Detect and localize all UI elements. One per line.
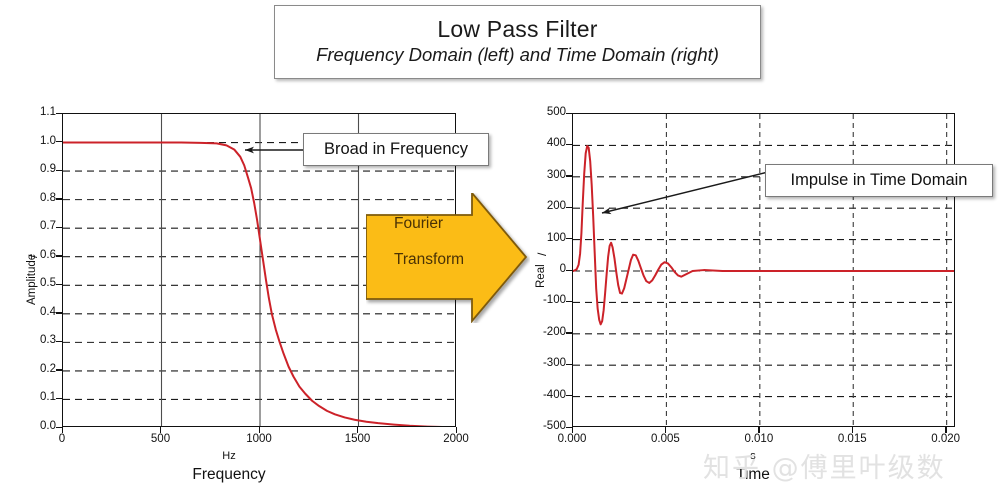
y-tick-mark <box>566 301 572 302</box>
y-tick-label: 400 <box>528 137 566 149</box>
x-tick-label: 0.020 <box>911 433 981 445</box>
y-tick-label: 0.7 <box>18 220 56 232</box>
y-tick-mark <box>56 255 62 256</box>
x-tick-label: 0.015 <box>817 433 887 445</box>
y-tick-mark <box>56 141 62 142</box>
y-tick-label: -100 <box>528 294 566 306</box>
y-tick-label: 0.1 <box>18 391 56 403</box>
y-tick-label: 1.1 <box>18 106 56 118</box>
y-tick-mark <box>566 113 572 114</box>
x-tick-mark <box>62 427 63 433</box>
y-tick-label: 100 <box>528 232 566 244</box>
x-tick-label: 0.010 <box>724 433 794 445</box>
x-tick-label: 0.000 <box>537 433 607 445</box>
y-axis-unit-real: / <box>535 253 549 256</box>
y-tick-mark <box>566 238 572 239</box>
y-tick-label: 1.0 <box>18 135 56 147</box>
page-subtitle: Frequency Domain (left) and Time Domain … <box>316 44 719 66</box>
page-title: Low Pass Filter <box>437 17 597 41</box>
y-tick-mark <box>566 332 572 333</box>
y-tick-label: -400 <box>528 389 566 401</box>
y-tick-mark <box>56 398 62 399</box>
x-tick-mark <box>758 427 759 433</box>
y-tick-label: 200 <box>528 200 566 212</box>
x-tick-label: 1000 <box>224 433 294 445</box>
watermark: 知乎 @傅里叶级数 <box>703 446 946 485</box>
fourier-arrow-line1: Fourier <box>366 215 530 233</box>
y-tick-label: 0.8 <box>18 192 56 204</box>
y-tick-mark <box>56 227 62 228</box>
y-tick-mark <box>56 312 62 313</box>
y-axis-title-amplitude: Amplitude <box>26 254 38 305</box>
y-tick-label: -200 <box>528 326 566 338</box>
y-tick-label: 0 <box>528 263 566 275</box>
fourier-transform-arrow: Fourier Transform <box>366 193 530 323</box>
y-tick-label: 0.9 <box>18 163 56 175</box>
y-tick-label: 500 <box>528 106 566 118</box>
x-tick-mark <box>456 427 457 433</box>
callout-broad-in-frequency: Broad in Frequency <box>303 133 489 166</box>
y-tick-mark <box>566 395 572 396</box>
impulse-response-curve <box>573 114 955 427</box>
x-axis-title-frequency: Frequency <box>159 466 299 484</box>
y-tick-mark <box>566 364 572 365</box>
y-tick-mark <box>566 144 572 145</box>
y-tick-mark <box>566 207 572 208</box>
x-tick-mark <box>259 427 260 433</box>
x-tick-mark <box>665 427 666 433</box>
x-tick-mark <box>160 427 161 433</box>
plot-area-time <box>572 113 955 427</box>
y-tick-mark <box>566 270 572 271</box>
x-tick-label: 0 <box>27 433 97 445</box>
y-tick-mark <box>56 341 62 342</box>
x-tick-mark <box>945 427 946 433</box>
y-tick-mark <box>56 369 62 370</box>
x-tick-mark <box>572 427 573 433</box>
y-tick-label: 0.0 <box>18 420 56 432</box>
x-tick-label: 0.005 <box>630 433 700 445</box>
y-tick-mark <box>56 284 62 285</box>
x-axis-unit-hz: Hz <box>199 450 259 462</box>
fourier-arrow-line2: Transform <box>366 251 530 269</box>
y-axis-unit-amplitude: / <box>26 255 40 258</box>
y-tick-mark <box>56 113 62 114</box>
y-tick-label: 0.3 <box>18 334 56 346</box>
x-tick-mark <box>852 427 853 433</box>
y-tick-label: 0.4 <box>18 306 56 318</box>
y-tick-label: 0.2 <box>18 363 56 375</box>
y-tick-label: 300 <box>528 169 566 181</box>
x-tick-label: 1500 <box>323 433 393 445</box>
y-tick-label: -300 <box>528 357 566 369</box>
callout-impulse-in-time-domain: Impulse in Time Domain <box>765 164 993 197</box>
x-tick-label: 2000 <box>421 433 491 445</box>
y-tick-mark <box>56 198 62 199</box>
y-tick-label: -500 <box>528 420 566 432</box>
y-tick-mark <box>566 175 572 176</box>
y-axis-title-real: Real <box>535 264 547 288</box>
y-tick-mark <box>56 170 62 171</box>
title-box: Low Pass Filter Frequency Domain (left) … <box>274 5 761 79</box>
x-tick-label: 500 <box>126 433 196 445</box>
x-tick-mark <box>357 427 358 433</box>
